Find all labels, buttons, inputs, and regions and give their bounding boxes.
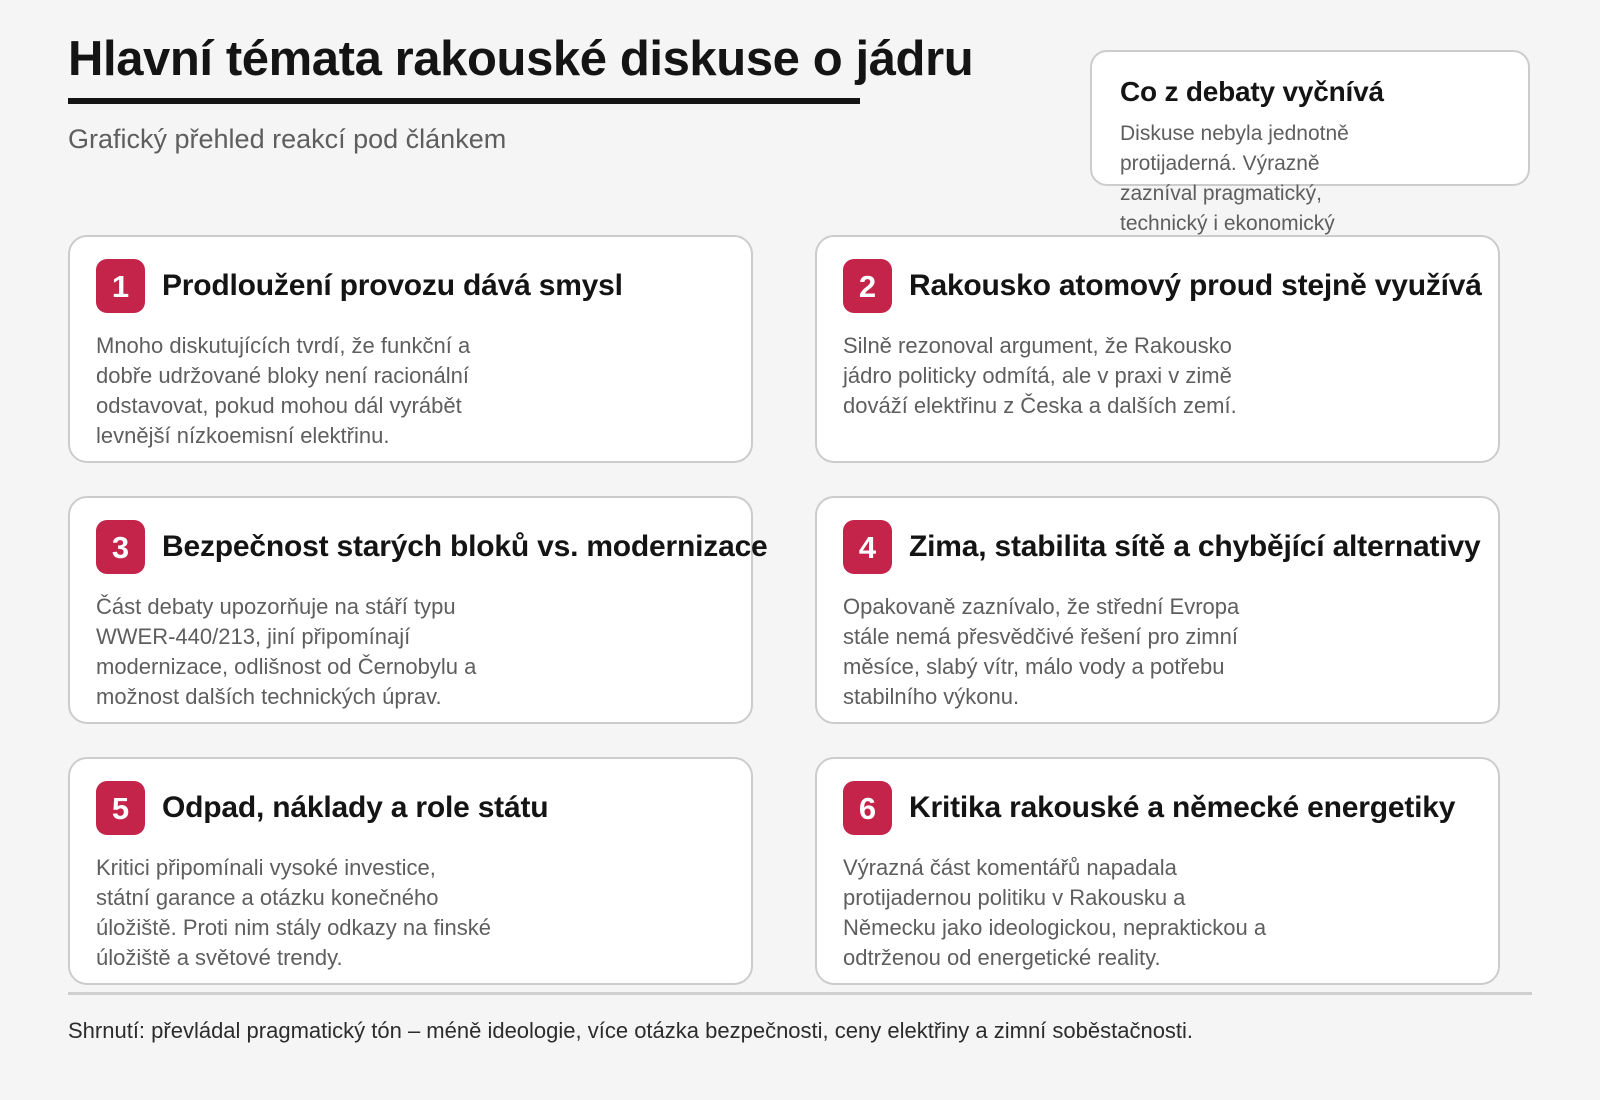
card-title: Rakousko atomový proud stejně využívá <box>909 259 1482 313</box>
callout-tooltip[interactable]: Co z debaty vyčnívá Diskuse nebyla jedno… <box>1090 50 1530 186</box>
card-header: 1 Prodloužení provozu dává smysl <box>96 259 725 315</box>
card-row: 5 Odpad, náklady a role státu Kritici př… <box>68 757 1532 985</box>
topic-card[interactable]: 3 Bezpečnost starých bloků vs. moderniza… <box>68 496 753 724</box>
card-body-text: Opakovaně zaznívalo, že střední Evropa s… <box>843 592 1472 712</box>
infographic-page: Hlavní témata rakouské diskuse o jádru G… <box>0 0 1600 1100</box>
card-body-text: Silně rezonoval argument, že Rakousko já… <box>843 331 1472 421</box>
card-number-badge: 5 <box>96 781 145 835</box>
topic-card[interactable]: 6 Kritika rakouské a německé energetiky … <box>815 757 1500 985</box>
page-footer: Shrnutí: převládal pragmatický tón – mén… <box>68 992 1532 1044</box>
title-underline-divider <box>68 98 860 104</box>
card-title: Prodloužení provozu dává smysl <box>162 259 623 313</box>
card-body-text: Kritici připomínali vysoké investice, st… <box>96 853 725 973</box>
footer-divider <box>68 992 1532 995</box>
card-body-text: Část debaty upozorňuje na stáří typu WWE… <box>96 592 725 712</box>
card-row: 1 Prodloužení provozu dává smysl Mnoho d… <box>68 235 1532 463</box>
card-header: 2 Rakousko atomový proud stejně využívá <box>843 259 1472 315</box>
card-number-badge: 4 <box>843 520 892 574</box>
card-header: 3 Bezpečnost starých bloků vs. moderniza… <box>96 520 725 576</box>
card-header: 5 Odpad, náklady a role státu <box>96 781 725 837</box>
card-title: Zima, stabilita sítě a chybějící alterna… <box>909 520 1480 574</box>
tooltip-body-text: Diskuse nebyla jednotně protijaderná. Vý… <box>1120 119 1500 238</box>
card-header: 4 Zima, stabilita sítě a chybějící alter… <box>843 520 1472 576</box>
card-body-text: Výrazná část komentářů napadala protijad… <box>843 853 1472 973</box>
card-title: Odpad, náklady a role státu <box>162 781 548 835</box>
topic-card[interactable]: 1 Prodloužení provozu dává smysl Mnoho d… <box>68 235 753 463</box>
card-body-text: Mnoho diskutujících tvrdí, že funkční a … <box>96 331 725 451</box>
card-number-badge: 3 <box>96 520 145 574</box>
tooltip-title: Co z debaty vyčnívá <box>1120 76 1500 108</box>
topic-card-grid: 1 Prodloužení provozu dává smysl Mnoho d… <box>68 235 1532 1018</box>
card-number-badge: 2 <box>843 259 892 313</box>
topic-card[interactable]: 2 Rakousko atomový proud stejně využívá … <box>815 235 1500 463</box>
card-row: 3 Bezpečnost starých bloků vs. moderniza… <box>68 496 1532 724</box>
card-number-badge: 6 <box>843 781 892 835</box>
card-title: Bezpečnost starých bloků vs. modernizace <box>162 520 768 574</box>
topic-card[interactable]: 5 Odpad, náklady a role státu Kritici př… <box>68 757 753 985</box>
card-title: Kritika rakouské a německé energetiky <box>909 781 1455 835</box>
topic-card[interactable]: 4 Zima, stabilita sítě a chybějící alter… <box>815 496 1500 724</box>
summary-note: Shrnutí: převládal pragmatický tón – mén… <box>68 1018 1532 1044</box>
card-number-badge: 1 <box>96 259 145 313</box>
card-header: 6 Kritika rakouské a německé energetiky <box>843 781 1472 837</box>
